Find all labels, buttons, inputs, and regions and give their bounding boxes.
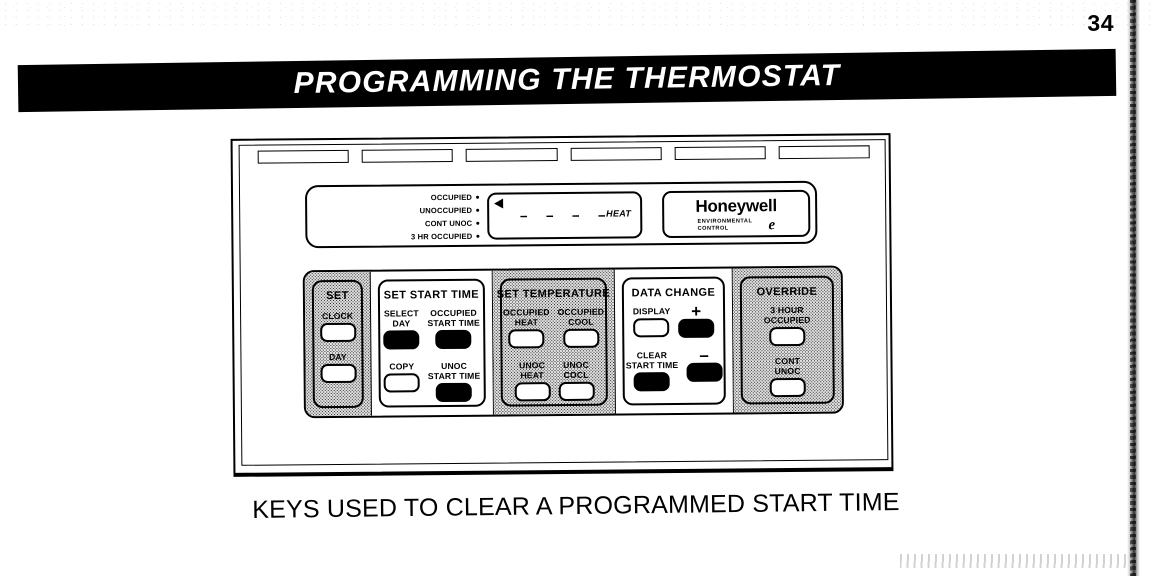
key-unoc-heat[interactable]: UNOCHEAT	[514, 360, 550, 401]
brand-subtitle-text: ENVIRONMENTAL CONTROL	[697, 218, 752, 232]
key-button[interactable]	[320, 364, 356, 383]
brand-subtitle-row: ENVIRONMENTAL CONTROL e	[664, 218, 808, 233]
banner-title-text: PROGRAMMING THE THERMOSTAT	[293, 58, 840, 100]
key-button[interactable]	[678, 319, 714, 338]
key-button[interactable]	[558, 382, 594, 401]
key-label: OCCUPIEDHEAT	[503, 307, 550, 327]
key-unoc-start-time[interactable]: UNOCSTART TIME	[428, 361, 481, 402]
key-row: SELECTDAYOCCUPIEDSTART TIME	[371, 308, 492, 350]
left-triangle-icon	[494, 199, 503, 209]
status-label: UNOCCUPIED	[420, 206, 473, 215]
status-indicator-occupied: OCCUPIED	[367, 191, 479, 205]
key-button[interactable]	[770, 378, 806, 397]
key-stack: CLOCKDAY	[305, 311, 371, 384]
key-row: COPYUNOCSTART TIME	[371, 361, 492, 403]
key-occupied-heat[interactable]: OCCUPIEDHEAT	[503, 307, 550, 348]
display-panel: OCCUPIED UNOCCUPIED CONT UNOC 3 HR OCCUP…	[305, 181, 818, 248]
key-label: 3 HOUROCCUPIED	[764, 305, 811, 325]
status-indicator-list: OCCUPIED UNOCCUPIED CONT UNOC 3 HR OCCUP…	[367, 191, 479, 244]
key-button[interactable]	[514, 382, 550, 401]
vent-slot	[674, 146, 765, 160]
key-copy[interactable]: COPY	[384, 361, 420, 402]
key-clear-start-time[interactable]: CLEARSTART TIME	[626, 350, 679, 391]
key-[interactable]: –	[686, 350, 722, 391]
key-3-hour-occupied[interactable]: 3 HOUROCCUPIED	[764, 305, 811, 346]
key-section-title: SET TEMPERATURE	[493, 288, 614, 301]
status-led-icon	[476, 221, 479, 224]
honeywell-emblem-icon: e	[768, 218, 775, 232]
key-section-title: SET START TIME	[371, 289, 492, 302]
key-button[interactable]	[563, 329, 599, 348]
status-indicator-unoccupied: UNOCCUPIED	[367, 204, 479, 218]
vent-slot	[778, 145, 869, 159]
section-title-banner: PROGRAMMING THE THERMOSTAT	[18, 49, 1117, 112]
key-label: COPY	[389, 361, 414, 371]
status-led-icon	[476, 195, 479, 198]
key-button[interactable]	[634, 372, 670, 391]
keypad-panel: SETCLOCKDAYSET START TIMESELECTDAYOCCUPI…	[303, 266, 844, 419]
status-label: OCCUPIED	[431, 193, 472, 202]
key-label: CONTUNOC	[775, 356, 801, 376]
thermostat-figure: OCCUPIED UNOCCUPIED CONT UNOC 3 HR OCCUP…	[231, 133, 894, 477]
key-row: OCCUPIEDHEATOCCUPIEDCOOL	[493, 307, 614, 349]
figure-caption: KEYS USED TO CLEAR A PROGRAMMED START TI…	[0, 485, 1152, 528]
key-display[interactable]: DISPLAY	[633, 306, 671, 338]
key-label: CLOCK	[322, 311, 353, 321]
page-number: 34	[1087, 10, 1114, 37]
key-label: OCCUPIEDSTART TIME	[427, 308, 480, 328]
brand-name-text: Honeywell	[664, 196, 808, 217]
key-row: UNOCHEATUNOCCOCL	[493, 360, 614, 402]
key-button[interactable]	[384, 373, 420, 392]
key-row: DISPLAY+	[615, 306, 732, 339]
key-section-override: OVERRIDE3 HOUROCCUPIEDCONTUNOC	[733, 268, 842, 413]
status-indicator-3hr-occupied: 3 HR OCCUPIED	[367, 230, 479, 244]
key-unoc-cocl[interactable]: UNOCCOCL	[558, 360, 594, 401]
key-[interactable]: +	[678, 306, 714, 338]
key-label: OCCUPIEDCOOL	[558, 307, 605, 327]
scan-speckle-artifact	[0, 0, 1152, 26]
status-indicator-cont-unoc: CONT UNOC	[367, 217, 479, 231]
lcd-screen: – – – – HEAT	[487, 191, 642, 239]
key-label: DISPLAY	[633, 306, 671, 316]
key-section-set-temperature: SET TEMPERATUREOCCUPIEDHEATOCCUPIEDCOOLU…	[493, 270, 616, 415]
key-label: UNOCSTART TIME	[428, 361, 481, 381]
key-label: UNOCHEAT	[519, 360, 545, 380]
key-label: CLEARSTART TIME	[626, 350, 679, 370]
key-occupied-start-time[interactable]: OCCUPIEDSTART TIME	[427, 308, 480, 349]
key-label: +	[691, 306, 701, 318]
key-label: –	[699, 350, 709, 362]
brand-plate: Honeywell ENVIRONMENTAL CONTROL e	[662, 190, 810, 238]
vent-slot	[258, 150, 349, 164]
key-row: CLEARSTART TIME–	[615, 350, 732, 392]
key-button[interactable]	[383, 330, 419, 349]
key-stack: 3 HOUROCCUPIEDCONTUNOC	[733, 305, 842, 398]
status-led-icon	[476, 234, 479, 237]
key-button[interactable]	[634, 318, 670, 337]
vent-slot	[362, 149, 453, 163]
key-label: SELECTDAY	[384, 308, 419, 328]
key-section-title: OVERRIDE	[733, 286, 841, 299]
key-button[interactable]	[508, 329, 544, 348]
key-button[interactable]	[769, 327, 805, 346]
status-led-icon	[476, 208, 479, 211]
lcd-digit-readout: – – – –	[519, 208, 610, 226]
vent-slot-row	[258, 145, 870, 163]
key-button[interactable]	[436, 330, 472, 349]
vent-slot	[570, 147, 661, 161]
vent-slot	[466, 148, 557, 162]
key-section-set-start-time: SET START TIMESELECTDAYOCCUPIEDSTART TIM…	[371, 271, 494, 416]
key-button[interactable]	[320, 323, 356, 342]
key-section-title: SET	[305, 290, 370, 303]
key-button[interactable]	[436, 383, 472, 402]
key-occupied-cool[interactable]: OCCUPIEDCOOL	[558, 307, 605, 348]
scan-smudge-artifact	[900, 554, 1130, 568]
key-section-title: DATA CHANGE	[615, 287, 732, 300]
status-label: CONT UNOC	[425, 219, 472, 228]
key-clock[interactable]: CLOCK	[320, 311, 356, 342]
key-cont-unoc[interactable]: CONTUNOC	[769, 356, 805, 397]
key-select-day[interactable]: SELECTDAY	[383, 308, 419, 349]
lcd-mode-label: HEAT	[606, 208, 631, 218]
key-label: UNOCCOCL	[563, 360, 589, 380]
thermostat-inner-body: OCCUPIED UNOCCUPIED CONT UNOC 3 HR OCCUP…	[239, 139, 889, 466]
key-label: DAY	[329, 352, 347, 362]
key-button[interactable]	[686, 363, 722, 382]
key-section-set: SETCLOCKDAY	[305, 272, 372, 417]
key-section-data-change: DATA CHANGEDISPLAY+CLEARSTART TIME–	[615, 269, 734, 414]
key-day[interactable]: DAY	[320, 352, 356, 383]
status-label: 3 HR OCCUPIED	[411, 232, 473, 242]
brand-subtitle-line-2: CONTROL	[698, 225, 753, 232]
